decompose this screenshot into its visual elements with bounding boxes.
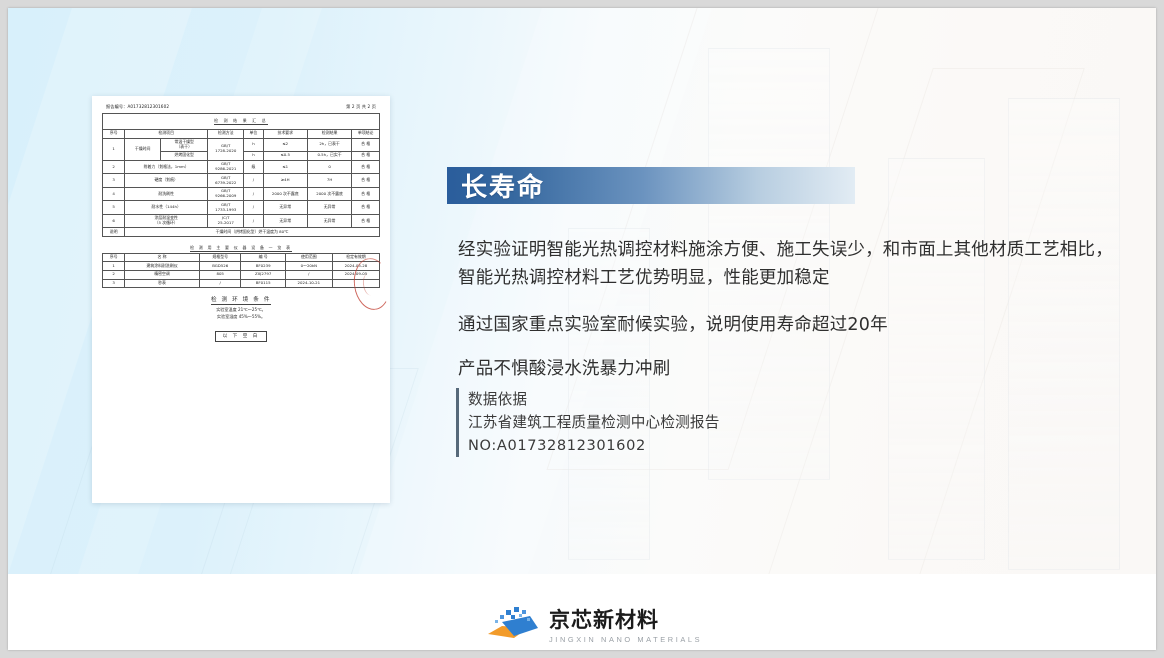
results-table-note-row: 说明 干燥时间（烘烤固化型）烘干温度为 80℃ bbox=[103, 228, 380, 237]
cell-item: 硬度（划痕） bbox=[125, 174, 208, 188]
cell-method: GB/T 9266-2009 bbox=[208, 187, 244, 201]
report-number: 报告编号：A01732812301602 bbox=[106, 104, 169, 110]
eq-cell-model: BGD526 bbox=[199, 262, 241, 271]
cell-method: GB/T 9286-2021 bbox=[208, 160, 244, 174]
results-table-header-row: 序号 检测项目 检测方法 单位 技术要求 检测结果 单项结论 bbox=[103, 129, 380, 138]
cell-result: 无异常 bbox=[307, 214, 351, 228]
cell-item: 附着力（划格法，1mm） bbox=[125, 160, 208, 174]
col-no: 序号 bbox=[103, 129, 125, 138]
cell-result: 0.5h，已实干 bbox=[307, 152, 351, 161]
cell-no: 2 bbox=[103, 160, 125, 174]
table-row: 6 涂层耐温变性 （5 次循环） JC/T 25-2017 / 无异常 无异常 … bbox=[103, 214, 380, 228]
logo-name-en: JINGXIN NANO MATERIALS bbox=[549, 635, 702, 644]
eq-col-name: 名 称 bbox=[125, 253, 200, 262]
eq-cell-name: 建筑涂料耐洗刷仪 bbox=[125, 262, 200, 271]
eq-cell-name: 精密空调 bbox=[125, 271, 200, 280]
cell-result: 2h，已表干 bbox=[307, 138, 351, 152]
logo-mark-icon bbox=[486, 606, 540, 648]
citation-report-number: NO:A01732812301602 bbox=[468, 434, 720, 457]
col-method: 检测方法 bbox=[208, 129, 244, 138]
section-title-banner: 长寿命 bbox=[447, 167, 855, 204]
cell-method: JC/T 25-2017 bbox=[208, 214, 244, 228]
equipment-header-row: 序号 名 称 规格型号 编 号 使用范围 检定有效期 bbox=[103, 253, 380, 262]
col-verdict: 单项结论 bbox=[352, 129, 380, 138]
eq-cell-range: 0～20kN bbox=[285, 262, 332, 271]
eq-cell-range: 2024-10-21 bbox=[285, 279, 332, 288]
cell-require: ≤1 bbox=[263, 160, 307, 174]
cell-unit: / bbox=[244, 214, 263, 228]
cell-require: ≤2 bbox=[263, 138, 307, 152]
cell-require: ≥4H bbox=[263, 174, 307, 188]
table-row: 1 干燥时间 常温干燥型 （表干） GB/T 1728-2020 h ≤2 2h… bbox=[103, 138, 380, 152]
cell-require: 2000 次不露底 bbox=[263, 187, 307, 201]
cell-result: 无异常 bbox=[307, 201, 351, 215]
cell-unit: / bbox=[244, 201, 263, 215]
results-table: 检 测 结 果 汇 总 序号 检测项目 检测方法 单位 技术要求 检测结果 单项… bbox=[102, 113, 380, 237]
cell-verdict: 合 格 bbox=[352, 174, 380, 188]
paragraph-2: 通过国家重点实验室耐候实验，说明使用寿命超过20年 bbox=[458, 311, 1118, 339]
table-row: 1 建筑涂料耐洗刷仪 BGD526 BF0239 0～20kN 2024-05-… bbox=[103, 262, 380, 271]
page-title: 长寿命 bbox=[461, 167, 545, 204]
cell-result: 0 bbox=[307, 160, 351, 174]
blank-below-box: 以 下 空 白 bbox=[215, 331, 268, 342]
environment-title: 检 测 环 境 条 件 bbox=[102, 295, 380, 303]
report-page-indicator: 第 2 页 共 2 页 bbox=[346, 104, 376, 110]
eq-col-model: 规格型号 bbox=[199, 253, 241, 262]
cell-sub: 常温干燥型 （表干） bbox=[161, 138, 208, 152]
eq-cell-serial: BF0115 bbox=[241, 279, 285, 288]
test-report-document[interactable]: 报告编号：A01732812301602 第 2 页 共 2 页 检 测 结 果… bbox=[92, 96, 390, 503]
cell-method: GB/T 1728-2020 bbox=[208, 138, 244, 160]
eq-col-no: 序号 bbox=[103, 253, 125, 262]
report-header: 报告编号：A01732812301602 第 2 页 共 2 页 bbox=[102, 104, 380, 113]
col-item: 检测项目 bbox=[125, 129, 208, 138]
slide-canvas: 报告编号：A01732812301602 第 2 页 共 2 页 检 测 结 果… bbox=[8, 8, 1156, 650]
cell-require: 无异常 bbox=[263, 214, 307, 228]
citation-label: 数据依据 bbox=[468, 388, 720, 411]
col-unit: 单位 bbox=[244, 129, 263, 138]
equipment-table-title: 检 测 用 主 要 仪 器 设 备 一 览 表 bbox=[103, 245, 380, 253]
cell-no: 1 bbox=[103, 138, 125, 160]
cell-verdict: 合 格 bbox=[352, 201, 380, 215]
col-result: 检测结果 bbox=[307, 129, 351, 138]
col-require: 技术要求 bbox=[263, 129, 307, 138]
eq-col-valid: 检定有效期 bbox=[332, 253, 379, 262]
cell-method: GB/T 6739-2022 bbox=[208, 174, 244, 188]
cell-item: 耐洗刷性 bbox=[125, 187, 208, 201]
eq-cell-valid: 2024-09-05 bbox=[332, 271, 379, 280]
cell-require: 无异常 bbox=[263, 201, 307, 215]
table-row: 5 耐水性（144h） GB/T 1733-1993 / 无异常 无异常 合 格 bbox=[103, 201, 380, 215]
cell-sub: 烘烤固化型 bbox=[161, 152, 208, 161]
cell-verdict: 合 格 bbox=[352, 160, 380, 174]
cell-verdict: 合 格 bbox=[352, 138, 380, 152]
eq-col-serial: 编 号 bbox=[241, 253, 285, 262]
results-table-title: 检 测 结 果 汇 总 bbox=[103, 114, 380, 130]
equipment-table: 检 测 用 主 要 仪 器 设 备 一 览 表 序号 名 称 规格型号 编 号 … bbox=[102, 245, 380, 288]
cell-require: ≤0.5 bbox=[263, 152, 307, 161]
eq-cell-no: 3 bbox=[103, 279, 125, 288]
eq-cell-valid: 2024-05-28 bbox=[332, 262, 379, 271]
table-row: 2 附着力（划格法，1mm） GB/T 9286-2021 级 ≤1 0 合 格 bbox=[103, 160, 380, 174]
eq-col-range: 使用范围 bbox=[285, 253, 332, 262]
cell-no: 3 bbox=[103, 174, 125, 188]
note-text: 干燥时间（烘烤固化型）烘干温度为 80℃ bbox=[125, 228, 380, 237]
body-copy: 经实验证明智能光热调控材料施涂方便、施工失误少，和市面上其他材质工艺相比，智能光… bbox=[458, 236, 1118, 383]
table-row: 4 耐洗刷性 GB/T 9266-2009 / 2000 次不露底 2000 次… bbox=[103, 187, 380, 201]
citation-block: 数据依据 江苏省建筑工程质量检测中心检测报告 NO:A0173281230160… bbox=[456, 388, 720, 457]
brand-logo: 京芯新材料 JINGXIN NANO MATERIALS bbox=[486, 606, 702, 648]
logo-text: 京芯新材料 JINGXIN NANO MATERIALS bbox=[549, 610, 702, 644]
cell-unit: h bbox=[244, 152, 263, 161]
environment-section: 检 测 环 境 条 件 实验室温度 21℃～25℃。 实验室湿度 45%～55%… bbox=[102, 288, 380, 344]
eq-cell-serial: ZXJ2797 bbox=[241, 271, 285, 280]
eq-cell-model: 805 bbox=[199, 271, 241, 280]
eq-cell-range: / bbox=[285, 271, 332, 280]
environment-line-2: 实验室湿度 45%～55%。 bbox=[102, 314, 380, 321]
paragraph-1: 经实验证明智能光热调控材料施涂方便、施工失误少，和市面上其他材质工艺相比，智能光… bbox=[458, 236, 1118, 293]
table-row: 3 秒表 / BF0115 2024-10-21 bbox=[103, 279, 380, 288]
cell-unit: / bbox=[244, 174, 263, 188]
cell-no: 4 bbox=[103, 187, 125, 201]
note-label: 说明 bbox=[103, 228, 125, 237]
eq-cell-serial: BF0239 bbox=[241, 262, 285, 271]
cell-verdict: 合 格 bbox=[352, 187, 380, 201]
cell-method: GB/T 1733-1993 bbox=[208, 201, 244, 215]
cell-result: 7H bbox=[307, 174, 351, 188]
cell-item: 耐水性（144h） bbox=[125, 201, 208, 215]
cell-verdict: 合 格 bbox=[352, 214, 380, 228]
eq-cell-name: 秒表 bbox=[125, 279, 200, 288]
logo-name-cn: 京芯新材料 bbox=[549, 610, 702, 631]
cell-unit: / bbox=[244, 187, 263, 201]
eq-cell-no: 1 bbox=[103, 262, 125, 271]
cell-item: 干燥时间 bbox=[125, 138, 161, 160]
paragraph-3: 产品不惧酸浸水洗暴力冲刷 bbox=[458, 355, 1118, 383]
table-row: 3 硬度（划痕） GB/T 6739-2022 / ≥4H 7H 合 格 bbox=[103, 174, 380, 188]
eq-cell-no: 2 bbox=[103, 271, 125, 280]
citation-organization: 江苏省建筑工程质量检测中心检测报告 bbox=[468, 411, 720, 434]
cell-result: 2000 次不露底 bbox=[307, 187, 351, 201]
eq-cell-valid bbox=[332, 279, 379, 288]
cell-verdict: 合 格 bbox=[352, 152, 380, 161]
cell-unit: 级 bbox=[244, 160, 263, 174]
cell-no: 5 bbox=[103, 201, 125, 215]
table-row: 2 精密空调 805 ZXJ2797 / 2024-09-05 bbox=[103, 271, 380, 280]
cell-unit: h bbox=[244, 138, 263, 152]
eq-cell-model: / bbox=[199, 279, 241, 288]
cell-no: 6 bbox=[103, 214, 125, 228]
cell-item: 涂层耐温变性 （5 次循环） bbox=[125, 214, 208, 228]
